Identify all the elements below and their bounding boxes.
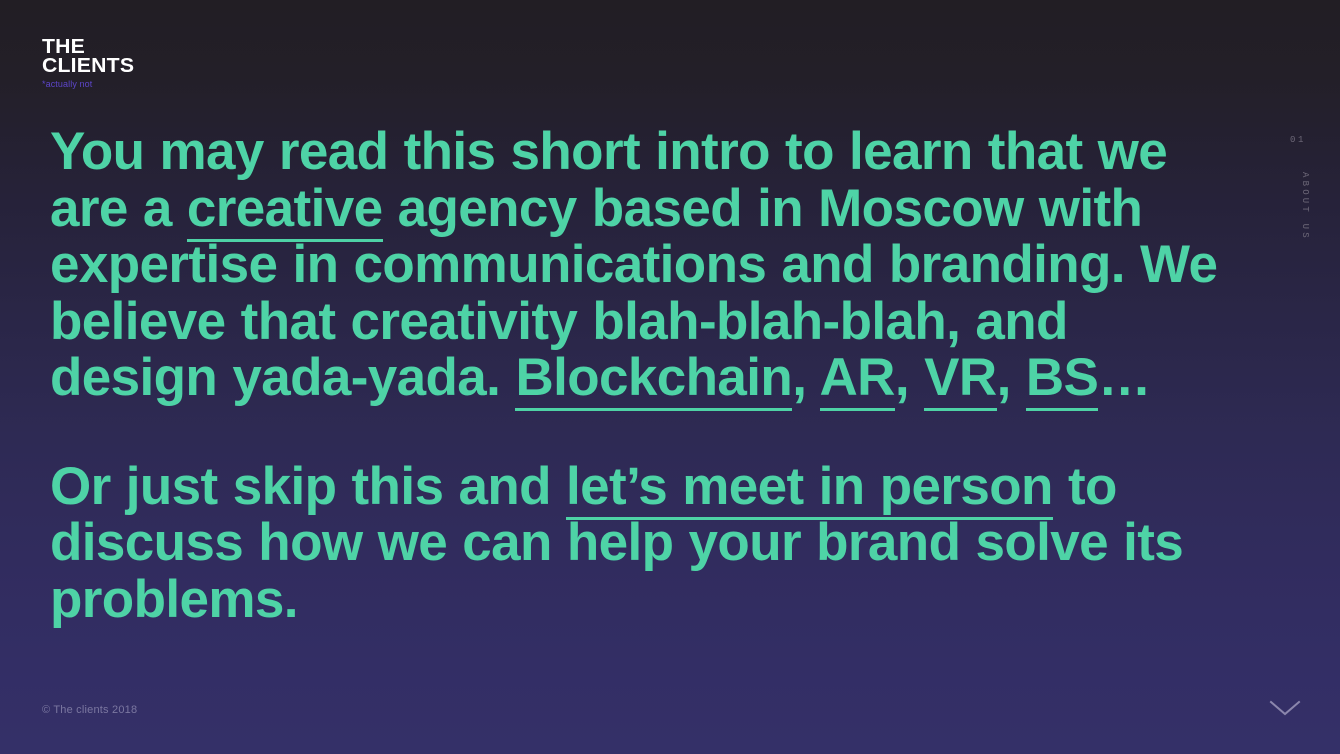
link-lets-meet-in-person[interactable]: let’s meet in person [566, 457, 1053, 520]
link-creative[interactable]: creative [187, 179, 383, 242]
section-label-about-us: ABOUT US [1300, 172, 1310, 241]
link-blockchain[interactable]: Blockchain [515, 348, 792, 411]
chevron-down-icon[interactable] [1268, 698, 1302, 718]
copyright-text: © The clients 2018 [42, 704, 137, 716]
link-vr[interactable]: VR [924, 348, 996, 411]
paragraph1-text-3: , [792, 348, 819, 407]
intro-content: You may read this short intro to learn t… [50, 124, 1230, 628]
intro-paragraph-1: You may read this short intro to learn t… [50, 124, 1230, 407]
paragraph1-text-5: , [997, 348, 1026, 407]
site-logo[interactable]: THE CLIENTS *actually not [42, 38, 242, 90]
logo-tagline: *actually not [42, 79, 242, 90]
link-ar[interactable]: AR [820, 348, 895, 411]
section-index: 01 [1290, 135, 1306, 145]
paragraph2-text-1: Or just skip this and [50, 457, 566, 516]
paragraph1-text-4: , [895, 348, 924, 407]
paragraph1-ellipsis: … [1098, 348, 1150, 407]
link-bs[interactable]: BS [1026, 348, 1098, 411]
logo-line-clients: CLIENTS [42, 57, 254, 76]
intro-paragraph-2: Or just skip this and let’s meet in pers… [50, 459, 1230, 629]
